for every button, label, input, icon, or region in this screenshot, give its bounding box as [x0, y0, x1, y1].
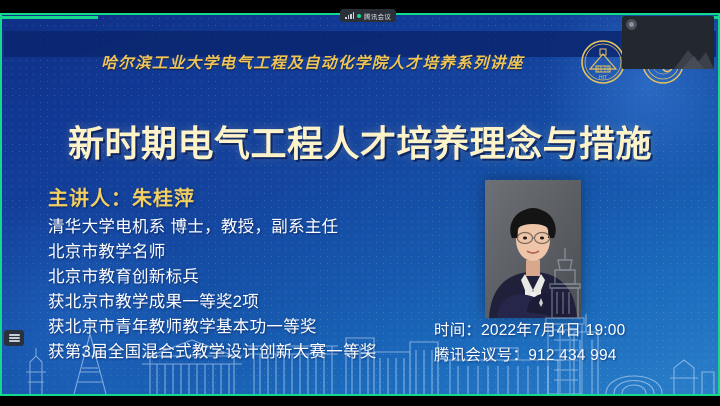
poster-speaker-label: 主讲人：朱桂萍: [48, 182, 195, 211]
participant-thumbnail[interactable]: 正在讲话: [622, 16, 714, 69]
meeting-status-pill[interactable]: 腾讯会议: [340, 9, 396, 22]
meeting-screen-share-view: 哈尔滨工业大学电气工程及自动化学院人才培养系列讲座 HIT: [0, 0, 720, 406]
credential-item: 清华大学电机系 博士，教授，副系主任: [48, 215, 468, 240]
person-avatar-icon: [626, 19, 637, 30]
green-status-dot-icon: [357, 14, 361, 18]
poster-title: 新时期电气工程人才培养理念与措施: [2, 115, 718, 167]
credential-item: 北京市教学名师: [48, 240, 468, 265]
list-menu-icon: [9, 333, 20, 344]
meeting-status-label: 腾讯会议: [364, 11, 391, 21]
participant-list-button[interactable]: [4, 330, 24, 346]
share-frame-accent-left: [2, 16, 98, 19]
credential-item: 北京市教育创新标兵: [48, 265, 468, 290]
window-bottom-bar: [0, 396, 720, 406]
hit-university-emblem-icon: HIT: [580, 39, 626, 85]
svg-text:HIT: HIT: [599, 75, 607, 81]
poster-kicker: 哈尔滨工业大学电气工程及自动化学院人才培养系列讲座: [40, 51, 585, 73]
lecture-poster: 哈尔滨工业大学电气工程及自动化学院人才培养系列讲座 HIT: [2, 15, 718, 394]
poster-skyline-illustration: [2, 298, 718, 394]
signal-bars-icon: [345, 12, 354, 19]
